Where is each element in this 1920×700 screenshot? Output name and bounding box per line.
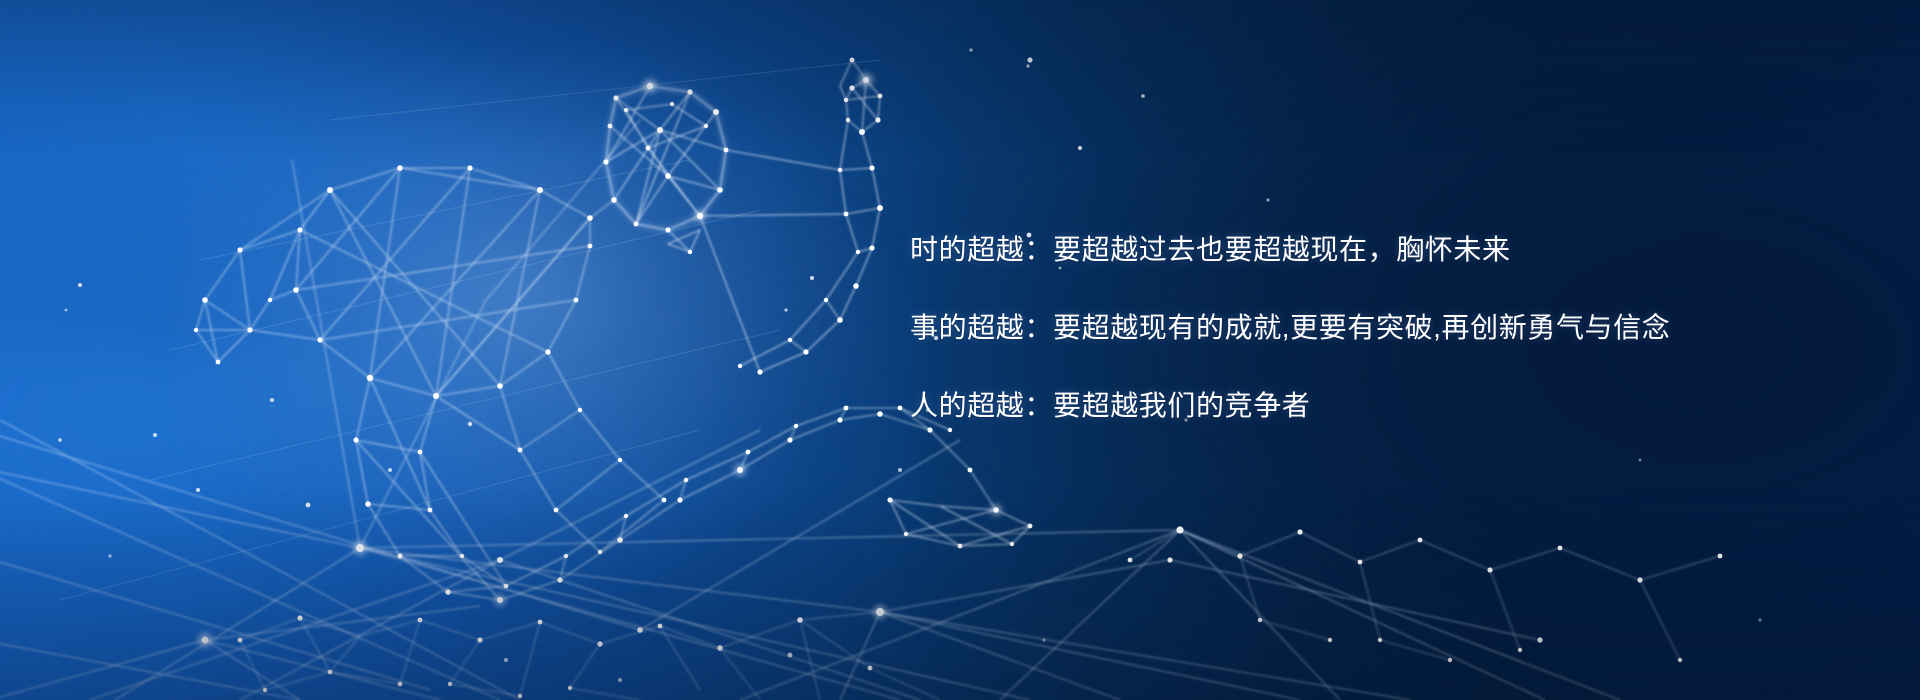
hero-banner: 时的超越：要超越过去也要超越现在，胸怀未来 事的超越：要超越现有的成就,更要有突… (0, 0, 1920, 700)
slogan-line-time: 时的超越：要超越过去也要超越现在，胸怀未来 (910, 236, 1810, 264)
slogan-text-block: 时的超越：要超越过去也要超越现在，胸怀未来 事的超越：要超越现有的成就,更要有突… (910, 236, 1810, 420)
slogan-line-matter: 事的超越：要超越现有的成就,更要有突破,再创新勇气与信念 (910, 314, 1810, 342)
slogan-line-people: 人的超越：要超越我们的竞争者 (910, 392, 1810, 420)
